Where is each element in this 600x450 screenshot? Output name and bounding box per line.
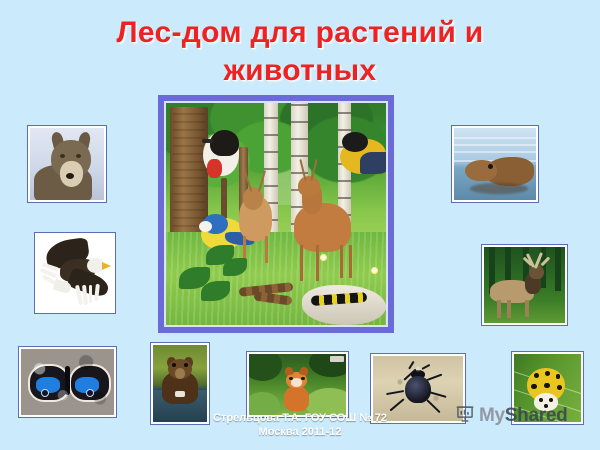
photo-eagle[interactable] bbox=[34, 232, 116, 314]
fox-photo bbox=[249, 354, 346, 415]
elk-photo bbox=[484, 247, 565, 323]
wolf-photo bbox=[30, 128, 104, 200]
photo-fox[interactable] bbox=[246, 351, 349, 418]
bear-photo bbox=[153, 345, 207, 422]
photo-elk[interactable] bbox=[481, 244, 568, 326]
beetle-photo bbox=[373, 356, 463, 421]
photo-bear[interactable] bbox=[150, 342, 210, 425]
presentation-chart-icon bbox=[455, 403, 475, 428]
photo-beetle[interactable] bbox=[370, 353, 466, 424]
photo-beaver[interactable] bbox=[451, 125, 539, 203]
photo-butterfly[interactable] bbox=[18, 346, 117, 418]
eagle-photo bbox=[37, 235, 113, 311]
butterfly-photo bbox=[21, 349, 114, 415]
myshared-watermark: MyShared bbox=[455, 403, 567, 428]
hero-forest-illustration[interactable] bbox=[158, 95, 394, 333]
photo-wolf[interactable] bbox=[27, 125, 107, 203]
page-title: Лес-дом для растений и животных bbox=[0, 14, 600, 90]
watermark-text-my: My bbox=[479, 405, 505, 426]
beaver-photo bbox=[454, 128, 536, 200]
forest-scene bbox=[166, 103, 386, 325]
watermark-text-shared: Shared bbox=[505, 405, 568, 426]
slide-canvas: Лес-дом для растений и животных bbox=[0, 0, 600, 450]
